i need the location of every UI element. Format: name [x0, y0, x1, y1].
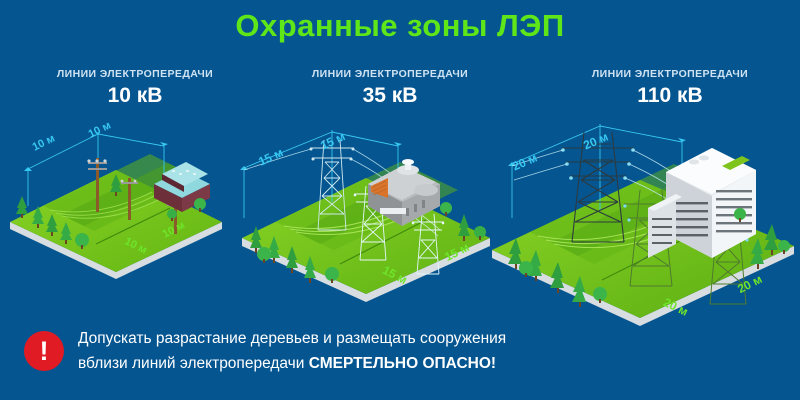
infographic-canvas: Охранные зоны ЛЭП ЛИНИИ ЭЛЕКТРОПЕРЕДАЧИ … [0, 0, 800, 400]
warning-line-1: Допускать разрастание деревьев и размеща… [78, 330, 506, 347]
warning-banner: ! Допускать разрастание деревьев и разме… [24, 322, 584, 384]
warning-line-2: вблизи линий электропередачи СМЕРТЕЛЬНО … [78, 351, 578, 376]
illustration-110kv [490, 118, 800, 328]
exclamation-glyph: ! [24, 331, 64, 371]
column-caption: ЛИНИИ ЭЛЕКТРОПЕРЕДАЧИ [560, 68, 780, 80]
column-caption: ЛИНИИ ЭЛЕКТРОПЕРЕДАЧИ [30, 68, 240, 80]
column-voltage: 35 кВ [285, 84, 495, 108]
warning-text: Допускать разрастание деревьев и размеща… [78, 326, 578, 376]
warning-line-2-normal: вблизи линий электропередачи [78, 355, 309, 372]
column-header-35kv: ЛИНИИ ЭЛЕКТРОПЕРЕДАЧИ 35 кВ [285, 68, 495, 108]
exclamation-icon: ! [24, 331, 64, 371]
column-voltage: 10 кВ [30, 84, 240, 108]
warning-line-2-bold: СМЕРТЕЛЬНО ОПАСНО! [309, 355, 496, 372]
column-caption: ЛИНИИ ЭЛЕКТРОПЕРЕДАЧИ [285, 68, 495, 80]
scene-110kv-svg [490, 118, 800, 328]
high-rise-building [648, 148, 756, 258]
column-header-10kv: ЛИНИИ ЭЛЕКТРОПЕРЕДАЧИ 10 кВ [30, 68, 240, 108]
column-header-110kv: ЛИНИИ ЭЛЕКТРОПЕРЕДАЧИ 110 кВ [560, 68, 780, 108]
page-title: Охранные зоны ЛЭП [0, 6, 800, 46]
column-voltage: 110 кВ [560, 84, 780, 108]
